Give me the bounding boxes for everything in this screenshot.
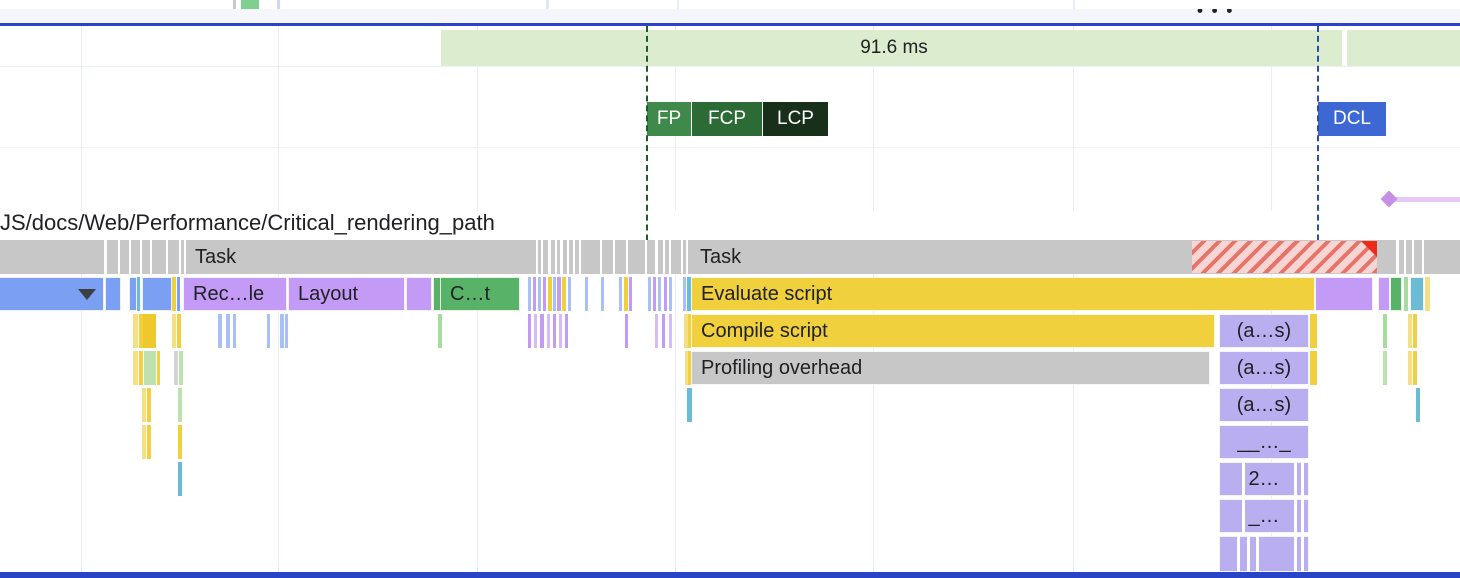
evaluate-script-bar[interactable]: Evaluate script [691,277,1315,311]
event-tick [662,314,665,348]
gridline [81,26,82,211]
event-tick [144,351,156,385]
bar-label: (a…s) [1237,394,1291,417]
task-label-left[interactable]: Task [186,240,654,274]
event-tick [1408,351,1412,385]
task-gap [118,240,120,274]
bar-label: C…t [441,283,490,306]
layout-bar[interactable]: Layout [288,277,405,311]
event-tick [267,314,270,348]
frame-gap [1301,536,1304,572]
event-tick [543,277,546,311]
event-tick [559,314,562,348]
event-tick [669,314,672,348]
frame-gap [1256,536,1259,572]
event-tick [147,425,151,459]
underscore-frame[interactable]: __…_ [1219,425,1309,459]
event-tick [285,314,288,348]
bar-label: 2… [1248,468,1279,491]
task-gap [150,240,152,274]
event-tick [648,277,651,311]
task-gap [655,240,658,274]
bar-label: Evaluate script [692,283,832,306]
task-gap [1404,240,1406,274]
bar-label: Task [186,246,236,269]
task-gap [140,240,142,274]
task-gap [129,240,131,274]
loading-bar[interactable] [142,277,172,311]
event-tick [687,388,692,422]
event-tick [547,314,550,348]
track-url-label: JS/docs/Web/Performance/Critical_renderi… [0,206,900,240]
anonymous-frame-3[interactable]: (a…s) [1219,388,1309,422]
bar-label: Profiling overhead [692,357,862,380]
event-tick [142,388,146,422]
event-tick [528,277,531,311]
profiling-overhead-bar[interactable]: Profiling overhead [691,351,1210,385]
event-tick [540,314,544,348]
event-tick [683,277,686,311]
event-tick [172,277,176,311]
event-tick [1413,314,1417,348]
event-tick [1310,351,1317,385]
lcp-diamond-marker[interactable] [1381,191,1398,208]
event-tick [1408,314,1412,348]
event-tick [218,314,222,348]
event-tick [568,277,571,311]
task-gap [1412,240,1414,274]
frame-gap [1301,462,1304,496]
event-tick [669,277,672,311]
event-tick [655,314,658,348]
overview-tick-blue-4 [1073,0,1075,9]
event-tick [226,314,230,348]
flame-chart[interactable]: Task Task Rec…le Layout C…t [0,240,1460,572]
event-tick [233,314,236,348]
bar-label: Compile script [692,320,828,343]
loading-bar[interactable] [129,277,137,311]
event-tick [653,277,656,311]
event-tick [533,277,536,311]
panel-bottom-border [0,572,1460,578]
event-tick [143,314,156,348]
timings-divider-2 [0,147,1460,148]
task-gap [1396,240,1399,274]
bar-label: _… [1248,505,1279,528]
overview-tick-blue-2 [546,0,549,9]
event-tick [601,277,604,311]
painting-bar-right[interactable] [1390,277,1402,311]
frame-gap [1294,536,1297,572]
task-gap [1422,240,1424,274]
task-gap [681,240,683,274]
gridline [278,26,279,211]
task-gap [179,240,181,274]
frame-gap [1294,462,1297,496]
event-tick [548,277,552,311]
task-gap [104,240,107,274]
event-tick [1404,277,1408,311]
commit-bar[interactable]: C…t [440,277,520,311]
timings-divider-1 [0,66,1460,67]
event-tick [142,425,146,459]
overview-top-ticks [0,0,1460,9]
frame-gap [1294,499,1297,533]
event-tick [629,277,632,311]
performance-panel: • • • 91.6 ms FP FCP LCP DCL JS/docs/ [0,0,1460,578]
event-tick [528,314,531,348]
rendering-bar-right-2[interactable] [1378,277,1390,311]
event-tick [178,425,182,459]
event-tick [157,351,160,385]
anonymous-frame-1[interactable]: (a…s) [1219,314,1309,348]
anonymous-frame-2[interactable]: (a…s) [1219,351,1309,385]
loading-bar-right[interactable] [1410,277,1424,311]
task-gap [166,240,168,274]
event-tick [1310,314,1317,348]
page-load-duration-band[interactable]: 91.6 ms [441,30,1460,66]
marker-fcp[interactable]: FCP [692,102,762,136]
task-gap [663,240,665,274]
bar-label: Task [691,246,741,269]
event-tick [565,314,568,348]
event-tick [557,277,561,311]
event-tick [658,277,661,311]
event-tick [534,314,537,348]
event-tick [624,277,628,311]
event-tick [664,277,667,311]
gridline [675,240,676,572]
event-tick [562,277,566,311]
event-tick [139,351,143,385]
duration-label: 91.6 ms [441,30,1347,66]
task-label-right[interactable]: Task [691,240,1191,274]
event-tick [177,277,180,311]
event-tick [174,351,178,385]
event-tick [137,277,140,311]
task-gap [686,240,688,274]
compile-script-bar[interactable]: Compile script [691,314,1215,348]
event-tick [553,314,556,348]
bar-label: (a…s) [1237,320,1291,343]
event-tick [1383,351,1387,385]
event-tick [280,314,284,348]
rendering-bar-right[interactable] [1315,277,1373,311]
frame-gap [1242,499,1245,533]
event-tick [179,351,183,385]
event-tick [538,277,541,311]
task-gap [669,240,671,274]
event-tick [625,314,628,348]
prepaint-bar[interactable] [406,277,432,311]
event-tick [1383,314,1387,348]
long-task-corner-icon [1361,241,1377,257]
expand-arrow-icon[interactable] [78,289,96,300]
long-task-warning[interactable] [1192,241,1377,273]
frame-gap [1237,536,1240,572]
event-tick [553,277,556,311]
frame-gap [1242,462,1245,496]
marker-lcp[interactable]: LCP [763,102,828,136]
loading-bar[interactable] [105,277,121,311]
event-tick [585,277,588,311]
event-tick [178,462,182,496]
event-tick [619,277,622,311]
frame-gap [1247,536,1250,572]
event-tick [178,388,182,422]
event-tick [1425,277,1430,311]
overview-tick-blue [277,0,280,9]
frame-gap [1301,499,1304,533]
bar-label: __…_ [1237,431,1290,454]
lcp-connector-line [1389,197,1460,202]
event-tick [1416,388,1420,422]
recalculate-style-bar[interactable]: Rec…le [183,277,287,311]
event-tick [133,351,138,385]
event-tick [147,388,151,422]
marker-fp[interactable]: FP [647,102,691,136]
bar-label: Rec…le [184,283,264,306]
marker-dcl[interactable]: DCL [1318,102,1386,136]
overview-tick-blue-3 [677,0,679,9]
bar-label: Layout [289,283,358,306]
timings-pane: 91.6 ms FP FCP LCP DCL [0,26,1460,211]
overview-tick-grey [233,0,236,9]
event-tick [172,314,176,348]
event-tick [133,314,138,348]
event-tick [1413,351,1417,385]
bar-label: (a…s) [1237,357,1291,380]
event-tick [438,314,442,348]
overview-tick-green [241,0,259,9]
event-tick [177,314,181,348]
